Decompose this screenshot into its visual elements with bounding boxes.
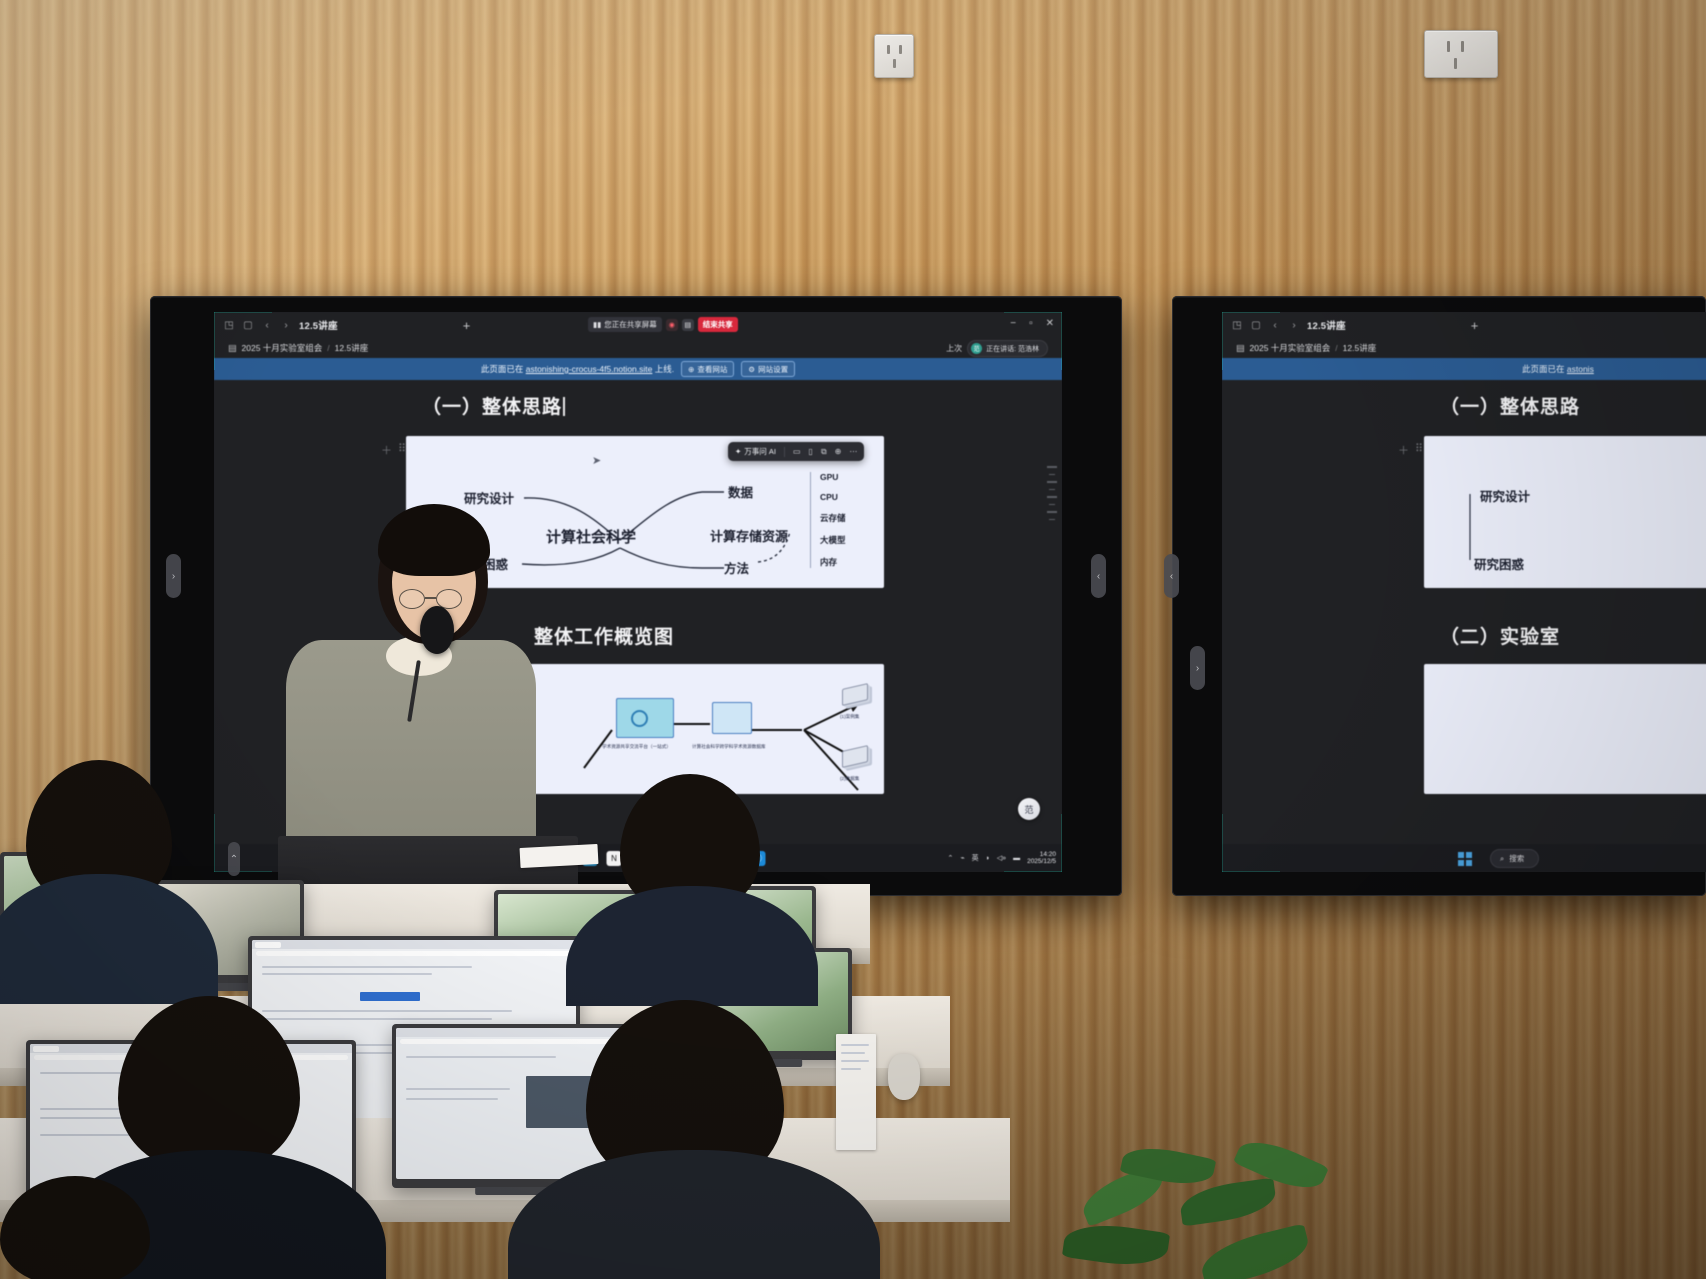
forward-arrow-icon[interactable]: ›	[280, 319, 292, 331]
desk-mouse	[888, 1054, 920, 1100]
content-line	[262, 1010, 512, 1012]
screen-share-bar: ▮▮ 您正在共享屏幕 ◉ ▤ 结束共享	[588, 317, 738, 332]
banner-suffix: 上线.	[655, 364, 674, 374]
presence-indicator: 上次 范 正在讲话: 范浩林	[946, 340, 1048, 357]
right-tv-edge-tab[interactable]: ›	[1190, 646, 1205, 690]
clock-date: 2025/12/5	[1027, 858, 1056, 865]
section-two-heading: 整体工作概览图	[534, 622, 674, 649]
glasses-left-lens	[399, 589, 425, 609]
section-one-heading: （一）整体思路	[422, 392, 565, 419]
right-notion-window: ◳ ▢ ‹ › 12.5讲座 + ▤ 2025 十月实验室组会 / 12.5讲座…	[1222, 312, 1706, 872]
mindmap-node-method: 方法	[724, 558, 749, 577]
screen-share-icon[interactable]: ▤	[682, 319, 694, 331]
search-placeholder: 搜索	[1509, 853, 1524, 864]
right-new-tab-button[interactable]: +	[1471, 318, 1479, 333]
resource-cloud-storage: 云存储	[820, 512, 846, 524]
podium-papers	[520, 844, 599, 868]
ask-ai-label: 万事问 AI	[744, 446, 776, 457]
more-icon[interactable]: ⋯	[849, 447, 857, 456]
windows-logo-icon[interactable]	[1458, 852, 1472, 866]
site-settings-button[interactable]: ⚙ 网站设置	[741, 361, 795, 377]
magnifier-icon	[631, 710, 648, 727]
presence-label: 上次	[946, 343, 962, 354]
plant-leaf	[1178, 1177, 1278, 1226]
doc-line	[841, 1068, 861, 1070]
right-add-block-icon[interactable]: ＋	[1398, 442, 1409, 458]
view-site-button[interactable]: ⊕ 查看网站	[681, 361, 734, 377]
right-tab-title[interactable]: 12.5讲座	[1307, 318, 1346, 332]
tab-title[interactable]: 12.5讲座	[299, 318, 338, 332]
mindmap-node-data: 数据	[728, 482, 753, 501]
speaker-text: 正在讲话: 范浩林	[986, 344, 1039, 354]
resource-memory: 内存	[820, 556, 846, 568]
mindmap-node-compute-storage: 计算存储资源	[710, 526, 788, 545]
notion-app-icon[interactable]: ◳	[223, 319, 235, 331]
right-publish-banner: 此页面已在 astonis	[1222, 358, 1706, 380]
sidebar-toggle-icon[interactable]: ▢	[242, 319, 254, 331]
workflow-caption-database: 计算社会科学跨学科学术资源数据库	[692, 744, 766, 750]
left-tv-edge-tab-right[interactable]: ‹	[1091, 554, 1106, 598]
published-url[interactable]: astonishing-crocus-4f5.notion.site	[526, 364, 653, 374]
right-published-url[interactable]: astonis	[1567, 364, 1594, 374]
avatar-bubble[interactable]: 范	[1018, 798, 1040, 820]
up-arrow-icon[interactable]: ⌃	[947, 854, 953, 862]
workflow-caption-case-set: (1)案例集	[840, 714, 859, 720]
right-sidebar-toggle-icon[interactable]: ▢	[1250, 319, 1262, 331]
resource-cpu: CPU	[820, 492, 846, 502]
phone-icon[interactable]: ▯	[809, 447, 813, 456]
clock-time: 14:20	[1027, 851, 1056, 858]
wifi-icon[interactable]: ◗	[986, 855, 990, 862]
publish-banner: 此页面已在 astonishing-crocus-4f5.notion.site…	[214, 358, 1062, 380]
resource-gpu: GPU	[820, 472, 846, 482]
breadcrumb-separator: /	[327, 343, 329, 353]
battery-icon[interactable]: ▬	[1013, 855, 1020, 862]
right-notion-app-icon[interactable]: ◳	[1231, 319, 1243, 331]
right-mindmap-node-research-confusion: 研究困惑	[1474, 554, 1524, 573]
left-tv-edge-tab[interactable]: ›	[166, 554, 181, 598]
resource-large-model: 大模型	[820, 534, 846, 546]
doc-line	[841, 1052, 865, 1054]
sparkle-icon: ✦	[735, 447, 741, 456]
zoom-icon[interactable]: ⊕	[835, 447, 842, 456]
microphone-head	[420, 606, 454, 654]
content-line	[262, 973, 432, 975]
lecture-hall-photo: ◳ ▢ ‹ › 12.5讲座 + ▮▮ 您正在共享屏幕 ◉ ▤ 结束共享	[0, 0, 1706, 1279]
right-back-arrow-icon[interactable]: ‹	[1269, 319, 1281, 331]
breadcrumb-current[interactable]: 12.5讲座	[335, 342, 369, 354]
resource-list: GPU CPU 云存储 大模型 内存	[810, 472, 846, 568]
breadcrumb: ▤ 2025 十月实验室组会 / 12.5讲座	[214, 338, 1062, 358]
right-display-panel: ◳ ▢ ‹ › 12.5讲座 + ▤ 2025 十月实验室组会 / 12.5讲座…	[1172, 296, 1706, 896]
avatar: 范	[971, 343, 982, 354]
wall-socket-left	[874, 34, 914, 78]
workflow-caption-data-set: (2)数据集	[840, 776, 859, 782]
desk-document	[836, 1034, 876, 1150]
right-windows-taskbar: ⌕ 搜索	[1222, 844, 1706, 872]
system-tray: ⌃ ⌁ 英 ◗ ◁» ▬ 14:20 2025/12/5	[947, 851, 1056, 866]
ime-icon[interactable]: 英	[972, 853, 979, 863]
fr-content-line	[406, 1098, 498, 1100]
minimize-button[interactable]: −	[1010, 318, 1016, 329]
wall-socket-right	[1424, 30, 1498, 78]
right-tv-edge-tab-left[interactable]: ‹	[1164, 554, 1179, 598]
mindmap-node-research-design: 研究设计	[464, 488, 514, 507]
window-controls: − ▫ ✕	[1010, 318, 1054, 329]
back-arrow-icon[interactable]: ‹	[261, 319, 273, 331]
right-drag-handle-icon[interactable]: ⠿	[1415, 442, 1423, 458]
address-bar[interactable]	[256, 951, 572, 956]
signal-icon: ▮▮	[593, 320, 601, 329]
site-settings-label: 网站设置	[758, 364, 788, 375]
microphone-icon[interactable]: ◉	[666, 319, 678, 331]
page-icon: ▤	[228, 343, 237, 354]
gear-icon: ⚙	[748, 365, 755, 374]
speaker-chip: 范 正在讲话: 范浩林	[967, 340, 1048, 357]
fr-content-line	[406, 1088, 510, 1090]
add-block-icon[interactable]: ＋	[381, 442, 392, 458]
right-section-one-heading: （一）整体思路	[1440, 392, 1580, 419]
plant-leaf	[1062, 1219, 1170, 1271]
right-breadcrumb-parent[interactable]: 2025 十月实验室组会	[1250, 342, 1331, 354]
fr-content-line	[406, 1056, 556, 1058]
comment-icon[interactable]: ▭	[793, 447, 801, 456]
mindmap-center-label: 计算社会科学	[546, 526, 636, 547]
right-mindmap-card[interactable]: 研究设计 研究困惑	[1424, 436, 1706, 588]
mic-icon[interactable]: ⌁	[960, 854, 964, 862]
workflow-caption-platform: 学术资源共享交流平台（一站式）	[602, 744, 671, 750]
content-line	[262, 966, 472, 968]
maximize-button[interactable]: ▫	[1029, 318, 1033, 329]
taskbar-search[interactable]: ⌕ 搜索	[1490, 849, 1539, 868]
content-line	[262, 1018, 492, 1020]
view-site-label: 查看网站	[697, 364, 727, 375]
right-publish-banner-text: 此页面已在 astonis	[1522, 363, 1594, 375]
fr-address-bar[interactable]	[400, 1039, 636, 1044]
block-handle-one[interactable]: ＋ ⠿	[381, 442, 406, 458]
right-notion-page-body: （一）整体思路 ＋ ⠿ 研究设计 研究困惑 （二）实验室	[1222, 380, 1706, 844]
ask-ai-button[interactable]: ✦ 万事问 AI	[735, 446, 776, 457]
share-status-pill: ▮▮ 您正在共享屏幕	[588, 317, 662, 332]
glasses-bridge	[425, 597, 436, 599]
browser-chrome	[252, 940, 576, 949]
right-tab-bar: ◳ ▢ ‹ › 12.5讲座 +	[1222, 312, 1706, 338]
new-tab-button[interactable]: +	[463, 318, 471, 333]
right-display-screen: ◳ ▢ ‹ › 12.5讲座 + ▤ 2025 十月实验室组会 / 12.5讲座…	[1222, 312, 1706, 872]
highlight-block	[360, 992, 420, 1001]
share-status-text: 您正在共享屏幕	[604, 319, 657, 330]
page-scroll-rail[interactable]	[1046, 466, 1058, 520]
right-section-two-heading: （二）实验室	[1440, 622, 1560, 649]
right-forward-arrow-icon[interactable]: ›	[1288, 319, 1300, 331]
plant-leaf	[1197, 1223, 1313, 1279]
right-mindmap-edges	[1424, 436, 1706, 588]
browser-tab[interactable]	[255, 942, 281, 948]
volume-icon[interactable]: ◁»	[997, 854, 1006, 862]
taskbar-clock[interactable]: 14:20 2025/12/5	[1027, 851, 1056, 866]
right-second-card[interactable]	[1424, 664, 1706, 794]
right-breadcrumb-current[interactable]: 12.5讲座	[1343, 342, 1377, 354]
right-block-handle[interactable]: ＋ ⠿	[1398, 442, 1423, 458]
doc-line	[841, 1044, 869, 1046]
workflow-database-node	[712, 702, 752, 734]
publish-banner-text: 此页面已在 astonishing-crocus-4f5.notion.site…	[481, 363, 674, 375]
right-page-icon: ▤	[1236, 343, 1245, 354]
right-banner-prefix: 此页面已在	[1522, 364, 1565, 374]
mouse-cursor-icon: ➤	[592, 454, 601, 467]
globe-icon: ⊕	[688, 365, 694, 374]
right-breadcrumb-separator: /	[1335, 343, 1337, 353]
doc-line	[841, 1060, 869, 1062]
right-breadcrumb: ▤ 2025 十月实验室组会 / 12.5讲座	[1222, 338, 1706, 358]
left-tv-edge-tab-bottom[interactable]: ⌃	[228, 842, 240, 876]
drag-handle-icon[interactable]: ⠿	[398, 442, 406, 458]
banner-prefix: 此页面已在	[481, 364, 524, 374]
potted-plant	[1060, 1140, 1360, 1279]
right-mindmap-node-research-design: 研究设计	[1480, 486, 1530, 505]
close-button[interactable]: ✕	[1046, 318, 1054, 329]
fr-browser-chrome	[396, 1028, 640, 1037]
copy-icon[interactable]: ⧉	[821, 447, 827, 457]
front-browser-tab[interactable]	[33, 1046, 59, 1052]
stop-share-button[interactable]: 结束共享	[698, 317, 738, 332]
ai-floating-toolbar[interactable]: ✦ 万事问 AI ▭ ▯ ⧉ ⊕ ⋯	[728, 442, 864, 461]
search-icon: ⌕	[1500, 854, 1504, 864]
breadcrumb-parent[interactable]: 2025 十月实验室组会	[242, 342, 323, 354]
